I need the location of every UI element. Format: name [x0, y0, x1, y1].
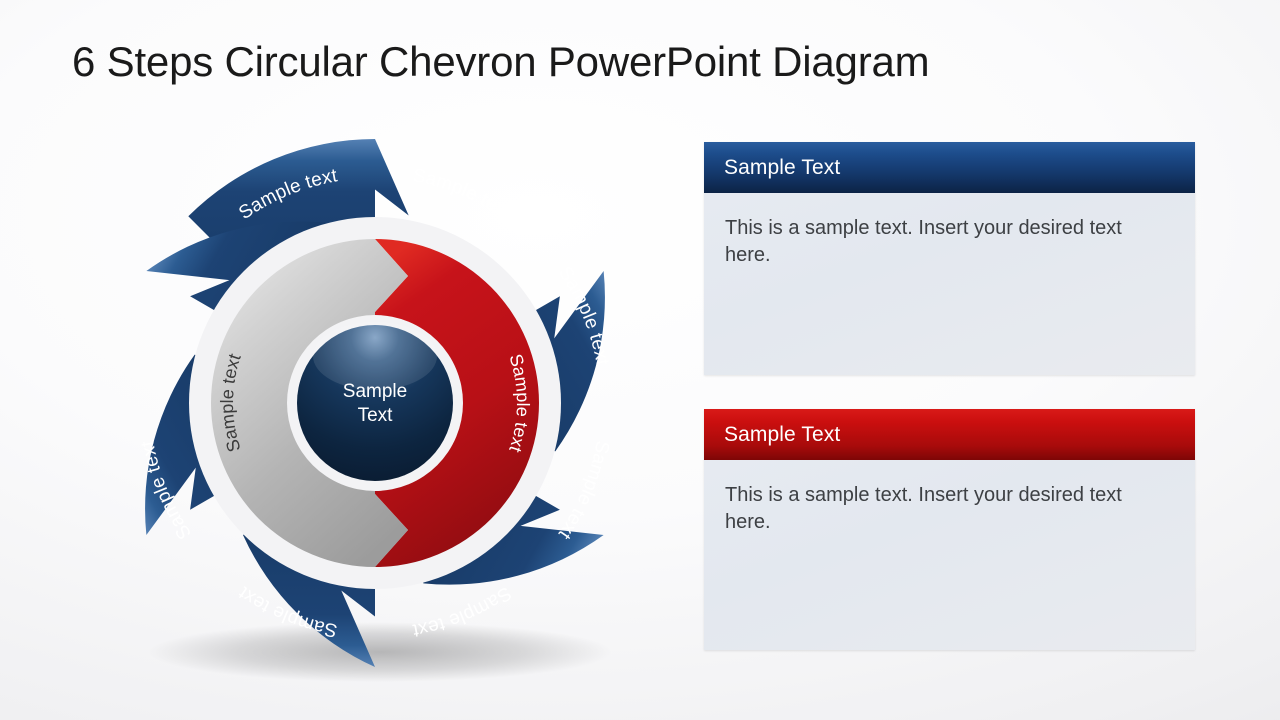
info-panel-red-header: Sample Text — [704, 409, 1195, 460]
slide-canvas: 6 Steps Circular Chevron PowerPoint Diag… — [0, 0, 1280, 720]
info-panel-red-body: This is a sample text. Insert your desir… — [704, 460, 1195, 537]
hub-label-line2: Text — [358, 405, 394, 426]
info-panel-red-title: Sample Text — [724, 423, 840, 447]
info-panel-blue-header: Sample Text — [704, 142, 1195, 193]
hub-label-line1: Sample — [343, 381, 407, 402]
page-title: 6 Steps Circular Chevron PowerPoint Diag… — [72, 38, 929, 86]
info-panel-red-text: This is a sample text. Insert your desir… — [725, 482, 1165, 537]
info-panel-blue-title: Sample Text — [724, 156, 840, 180]
outer-ring-label-4: Sample text — [554, 439, 613, 544]
info-panel-blue-text: This is a sample text. Insert your desir… — [725, 215, 1165, 270]
hub-gloss — [313, 322, 437, 390]
info-panel-red[interactable]: Sample Text This is a sample text. Inser… — [704, 409, 1195, 650]
outer-ring-label-2: Sample text — [411, 165, 516, 224]
info-panel-blue-body: This is a sample text. Insert your desir… — [704, 193, 1195, 270]
diagram-svg: Sample text Sample text Sample text Samp… — [90, 118, 660, 688]
diagram-shadow — [148, 622, 612, 682]
circular-chevron-diagram[interactable]: Sample text Sample text Sample text Samp… — [90, 118, 660, 688]
info-panel-blue[interactable]: Sample Text This is a sample text. Inser… — [704, 142, 1195, 375]
